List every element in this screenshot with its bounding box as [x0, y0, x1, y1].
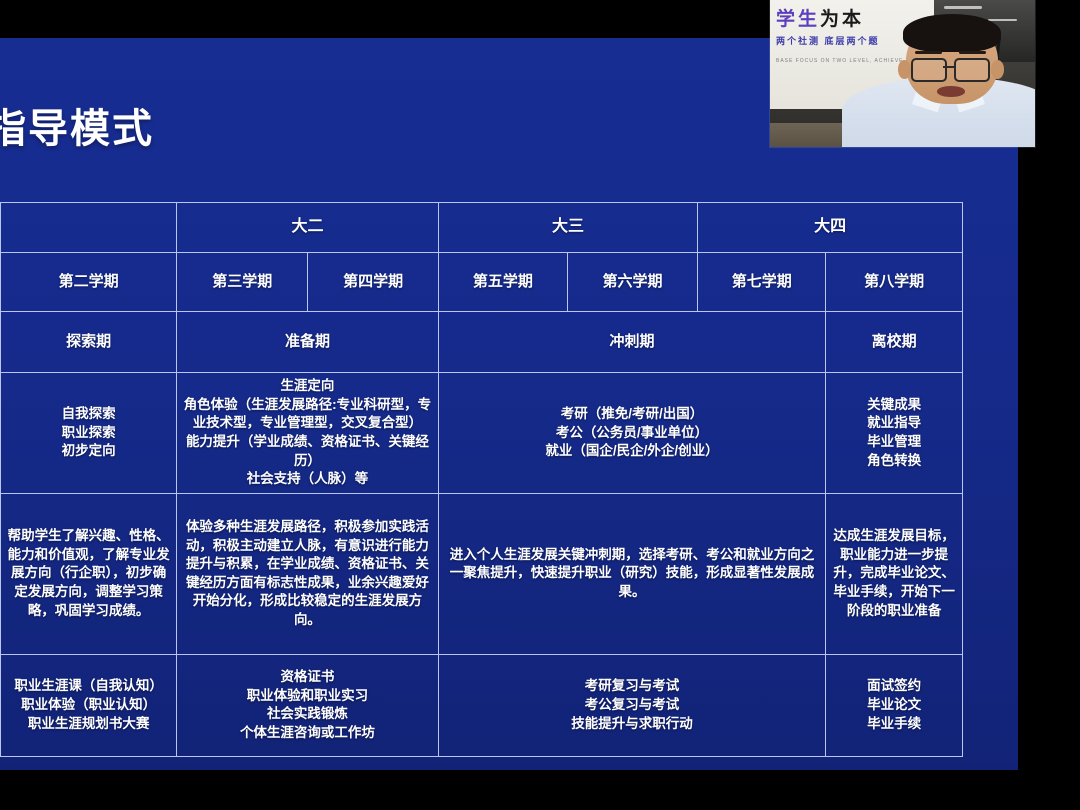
cell-phase-1: 准备期 [177, 312, 439, 373]
poster-headline-a: 学生 [776, 9, 820, 30]
poster-headline: 学生为本 [776, 4, 864, 31]
presenter-eyebrow-right [959, 51, 986, 54]
presenter-eyebrow-left [915, 51, 942, 54]
cell-term-0: 第二学期 [1, 253, 177, 312]
cell-term-5: 第七学期 [698, 253, 826, 312]
presenter-figure [865, 12, 1035, 147]
cell-term-6: 第八学期 [826, 253, 963, 312]
presenter-ear-right [991, 60, 1005, 79]
glasses-icon [911, 58, 947, 82]
cell-focus-1: 生涯定向角色体验（生涯发展路径:专业科研型，专业技术型，专业管理型，交叉复合型）… [177, 373, 439, 494]
glasses-icon [954, 58, 990, 82]
table-row-year: 大二 大三 大四 [1, 203, 963, 253]
cell-focus-2: 考研（推免/考研/出国）考公（公务员/事业单位）就业（国企/民企/外企/创业） [438, 373, 826, 494]
table-row-focus: 自我探索职业探索初步定向 生涯定向角色体验（生涯发展路径:专业科研型，专业技术型… [1, 373, 963, 494]
cell-focus-3: 关键成果就业指导毕业管理角色转换 [826, 373, 963, 494]
table-row-activity: 职业生涯课（自我认知）职业体验（职业认知）职业生涯规划书大赛 资格证书职业体验和… [1, 654, 963, 756]
presenter-video-overlay[interactable]: 学生为本 两个社测 底层两个题 BASE FOCUS ON TWO LEVEL,… [770, 0, 1035, 147]
poster-subline: 两个社测 底层两个题 [776, 34, 880, 47]
cell-phase-3: 离校期 [826, 312, 963, 373]
cell-year-1: 大二 [177, 203, 439, 253]
presentation-slide: 指导模式 大二 大三 大四 第二学期 第三学期 第四学期 [0, 38, 1018, 770]
cell-phase-0: 探索期 [1, 312, 177, 373]
cell-term-2: 第四学期 [308, 253, 438, 312]
cell-desc-0: 帮助学生了解兴趣、性格、能力和价值观，了解专业发展方向（行企职），初步确定发展方… [1, 493, 177, 654]
cell-term-1: 第三学期 [177, 253, 308, 312]
cell-year-0 [1, 203, 177, 253]
cell-desc-3: 达成生涯发展目标，职业能力进一步提升，完成毕业论文、毕业手续，开始下一阶段的职业… [826, 493, 963, 654]
cell-focus-0: 自我探索职业探索初步定向 [1, 373, 177, 494]
table-row-term: 第二学期 第三学期 第四学期 第五学期 第六学期 第七学期 第八学期 [1, 253, 963, 312]
presenter-mouth [937, 86, 966, 97]
cell-phase-2: 冲刺期 [438, 312, 826, 373]
screen: 指导模式 大二 大三 大四 第二学期 第三学期 第四学期 [0, 0, 1080, 810]
page-title: 指导模式 [0, 96, 154, 154]
cell-activity-3: 面试签约毕业论文毕业手续 [826, 654, 963, 756]
cell-activity-1: 资格证书职业体验和职业实习社会实践锻炼个体生涯咨询或工作坊 [177, 654, 439, 756]
presenter-hair [903, 14, 1001, 52]
cell-desc-1: 体验多种生涯发展路径，积极参加实践活动，积极主动建立人脉，有意识进行能力提升与积… [177, 493, 439, 654]
table-row-description: 帮助学生了解兴趣、性格、能力和价值观，了解专业发展方向（行企职），初步确定发展方… [1, 493, 963, 654]
glasses-bridge-icon [943, 66, 953, 68]
cell-year-2: 大三 [438, 203, 697, 253]
poster-headline-b: 为本 [820, 9, 864, 30]
cell-term-3: 第五学期 [438, 253, 567, 312]
career-guidance-table: 大二 大三 大四 第二学期 第三学期 第四学期 第五学期 第六学期 第七学期 第… [0, 202, 963, 757]
cell-desc-2: 进入个人生涯发展关键冲刺期，选择考研、考公和就业方向之一聚焦提升，快速提升职业（… [438, 493, 826, 654]
cell-term-4: 第六学期 [567, 253, 697, 312]
cell-year-3: 大四 [698, 203, 963, 253]
ceiling-lamp-icon [944, 6, 982, 9]
cell-activity-2: 考研复习与考试考公复习与考试技能提升与求职行动 [438, 654, 826, 756]
cell-activity-0: 职业生涯课（自我认知）职业体验（职业认知）职业生涯规划书大赛 [1, 654, 177, 756]
table-row-phase: 探索期 准备期 冲刺期 离校期 [1, 312, 963, 373]
